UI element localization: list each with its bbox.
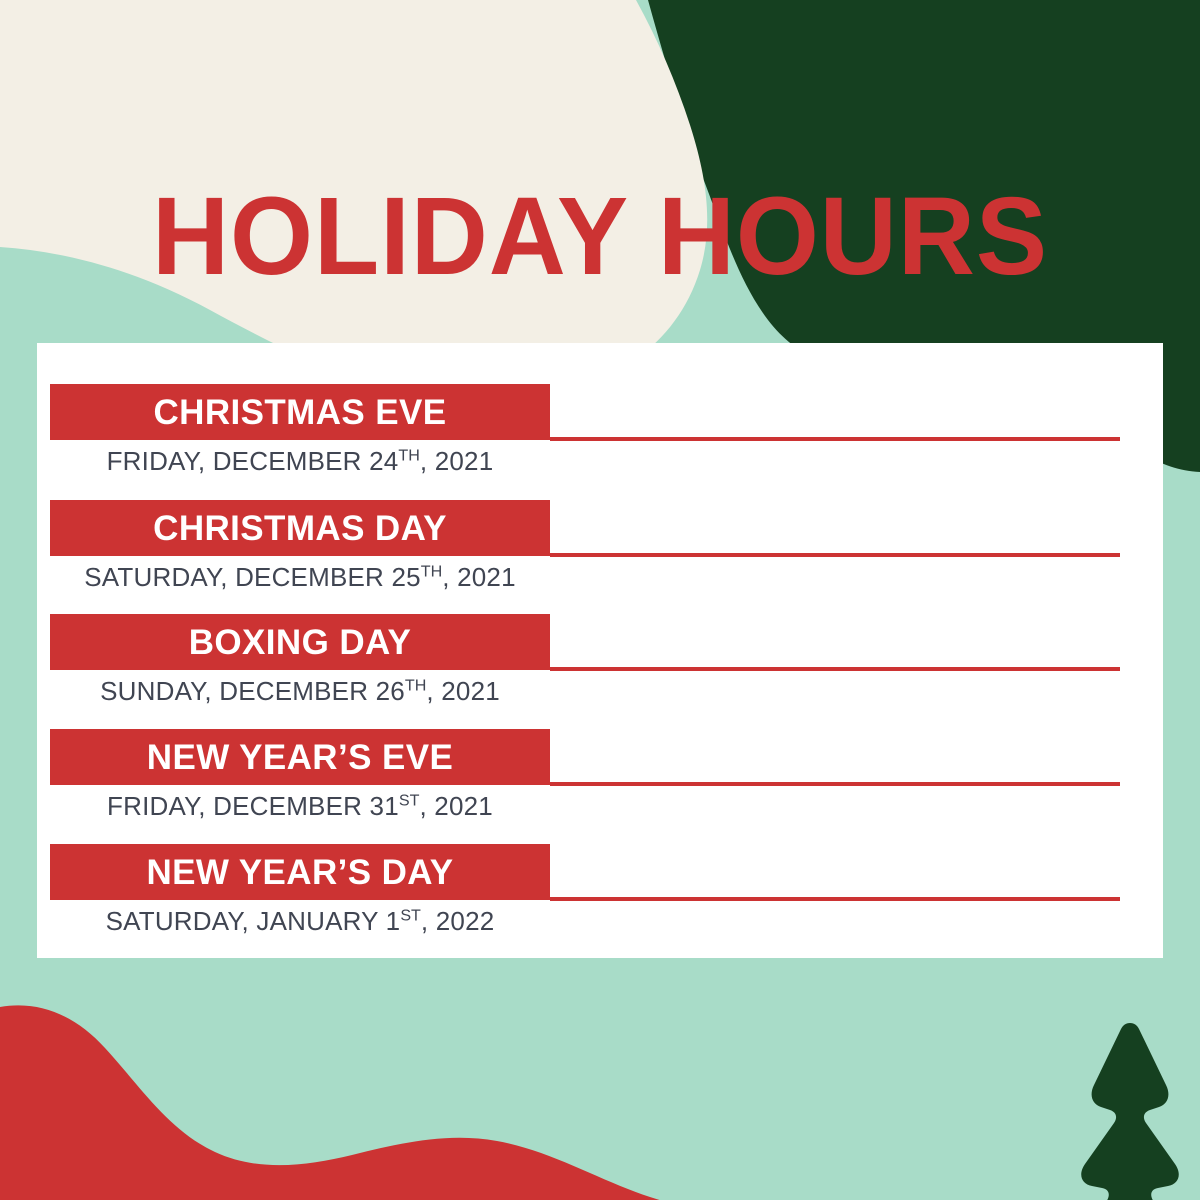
holiday-date-suffix: , 2021 xyxy=(420,446,494,476)
holiday-date-ordinal: TH xyxy=(405,677,426,695)
holiday-date-label: FRIDAY, DECEMBER 31ST, 2021 xyxy=(50,791,550,822)
holiday-name-banner: NEW YEAR’S EVE xyxy=(50,729,550,785)
holiday-name-label: CHRISTMAS DAY xyxy=(153,511,447,546)
holiday-date-suffix: , 2021 xyxy=(419,791,493,821)
holiday-name-banner: NEW YEAR’S DAY xyxy=(50,844,550,900)
table-row: NEW YEAR’S DAY SATURDAY, JANUARY 1ST, 20… xyxy=(37,844,1163,959)
holiday-name-banner: CHRISTMAS DAY xyxy=(50,500,550,556)
table-row: NEW YEAR’S EVE FRIDAY, DECEMBER 31ST, 20… xyxy=(37,729,1163,844)
holiday-name-banner: CHRISTMAS EVE xyxy=(50,384,550,440)
holiday-name-label: NEW YEAR’S DAY xyxy=(146,855,453,890)
holiday-date-prefix: FRIDAY, DECEMBER 24 xyxy=(107,446,399,476)
holiday-date-label: SATURDAY, JANUARY 1ST, 2022 xyxy=(50,906,550,937)
schedule-card: CHRISTMAS EVE FRIDAY, DECEMBER 24TH, 202… xyxy=(37,343,1163,958)
holiday-date-prefix: SATURDAY, JANUARY 1 xyxy=(106,906,401,936)
hours-write-in-rule xyxy=(550,437,1120,441)
holiday-date-suffix: , 2021 xyxy=(426,676,500,706)
holiday-date-ordinal: TH xyxy=(421,563,442,581)
holiday-date-ordinal: ST xyxy=(399,792,420,810)
hours-write-in-rule xyxy=(550,667,1120,671)
table-row: BOXING DAY SUNDAY, DECEMBER 26TH, 2021 xyxy=(37,614,1163,729)
page-title: HOLIDAY HOURS xyxy=(18,182,1182,292)
holiday-date-prefix: SUNDAY, DECEMBER 26 xyxy=(100,676,405,706)
holiday-date-suffix: , 2021 xyxy=(442,562,516,592)
holiday-date-suffix: , 2022 xyxy=(421,906,495,936)
holiday-name-label: BOXING DAY xyxy=(189,625,411,660)
hours-write-in-rule xyxy=(550,782,1120,786)
holiday-date-label: FRIDAY, DECEMBER 24TH, 2021 xyxy=(50,446,550,477)
holiday-date-prefix: SATURDAY, DECEMBER 25 xyxy=(84,562,421,592)
holiday-date-ordinal: ST xyxy=(400,907,421,925)
hours-write-in-rule xyxy=(550,897,1120,901)
holiday-hours-poster: HOLIDAY HOURS CHRISTMAS EVE FRIDAY, DECE… xyxy=(0,0,1200,1200)
holiday-name-label: NEW YEAR’S EVE xyxy=(147,740,453,775)
holiday-date-ordinal: TH xyxy=(398,447,419,465)
table-row: CHRISTMAS DAY SATURDAY, DECEMBER 25TH, 2… xyxy=(37,500,1163,615)
table-row: CHRISTMAS EVE FRIDAY, DECEMBER 24TH, 202… xyxy=(37,384,1163,499)
holiday-date-label: SATURDAY, DECEMBER 25TH, 2021 xyxy=(50,562,550,593)
holiday-date-label: SUNDAY, DECEMBER 26TH, 2021 xyxy=(50,676,550,707)
hours-write-in-rule xyxy=(550,553,1120,557)
holiday-name-label: CHRISTMAS EVE xyxy=(153,395,446,430)
holiday-name-banner: BOXING DAY xyxy=(50,614,550,670)
holiday-date-prefix: FRIDAY, DECEMBER 31 xyxy=(107,791,399,821)
